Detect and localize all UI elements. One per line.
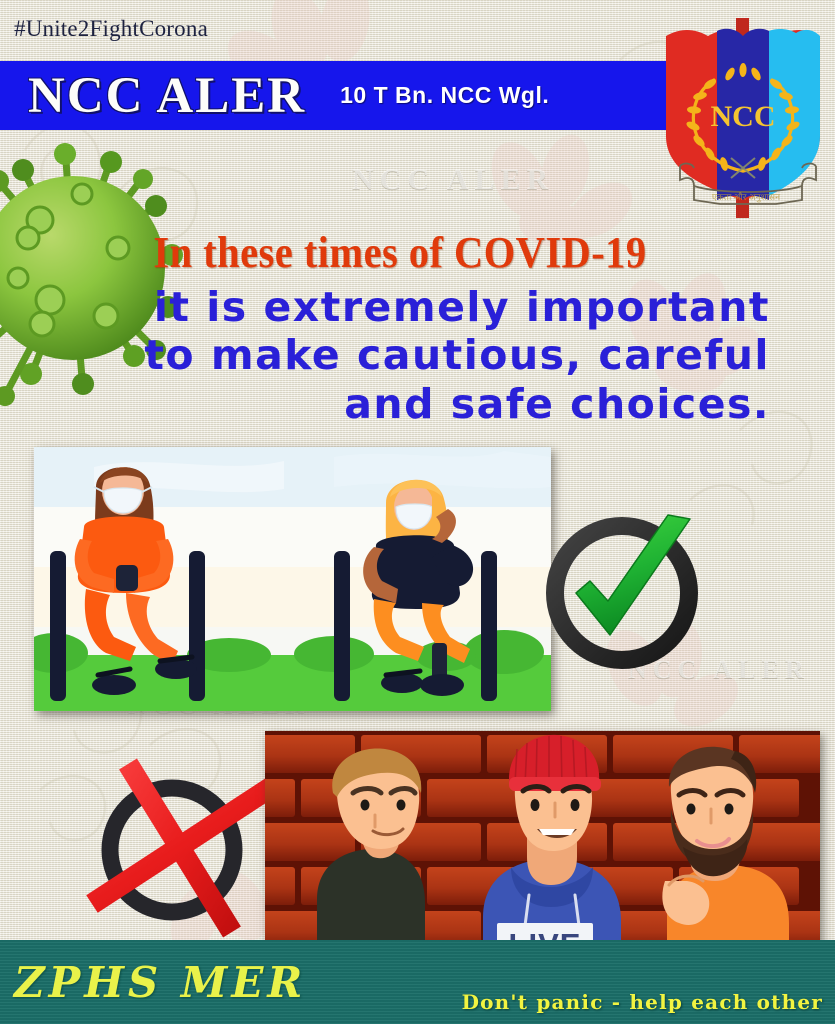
footer-tagline: Don't panic - help each other (462, 990, 823, 1014)
headline-body-line-3: and safe choices. (0, 380, 770, 428)
crest-ncc-text: NCC (711, 100, 776, 133)
mobile-phone (116, 565, 138, 591)
brick-wall-scene-illustration: LIVE (265, 731, 820, 965)
watermark-ncc-alert-1: NCC ALER (352, 163, 554, 197)
shoe-right-1 (420, 674, 464, 696)
footer-school-name: ZPHS MER (14, 958, 306, 1007)
header-banner: NCC ALER 10 T Bn. NCC Wgl. (0, 61, 679, 130)
smile-teeth (539, 829, 575, 835)
red-cross-icon (86, 752, 286, 942)
banner-subtitle: 10 T Bn. NCC Wgl. (340, 82, 549, 109)
crest-scroll-text: एकता और अनुशासन (712, 191, 781, 203)
hashtag-unite2fightcorona: #Unite2FightCorona (14, 16, 208, 42)
headline-group: In these times of COVID-19 (0, 227, 800, 278)
poster-canvas: NCC ALER NCC ALER NCC ALER #Unite2FightC… (0, 0, 835, 1024)
banner-title: NCC ALER (28, 67, 306, 125)
bench-scene-illustration (34, 447, 551, 711)
footer-band: ZPHS MER Don't panic - help each other (0, 940, 835, 1024)
headline-body-line-1: it is extremely important (0, 283, 770, 331)
headline-body-line-2: to make cautious, careful (0, 331, 770, 379)
ncc-crest-logo: NCC एकता और अनुशासन (658, 18, 828, 233)
prosthetic-leg (432, 643, 447, 679)
photo-social-distancing-good (34, 447, 551, 711)
headline-body-text: it is extremely important to make cautio… (0, 283, 796, 428)
shoe-left-1 (92, 675, 136, 695)
headline-covid-line: In these times of COVID-19 (32, 227, 768, 278)
green-check-icon (540, 497, 710, 682)
photo-crowding-bad: LIVE (265, 731, 820, 965)
